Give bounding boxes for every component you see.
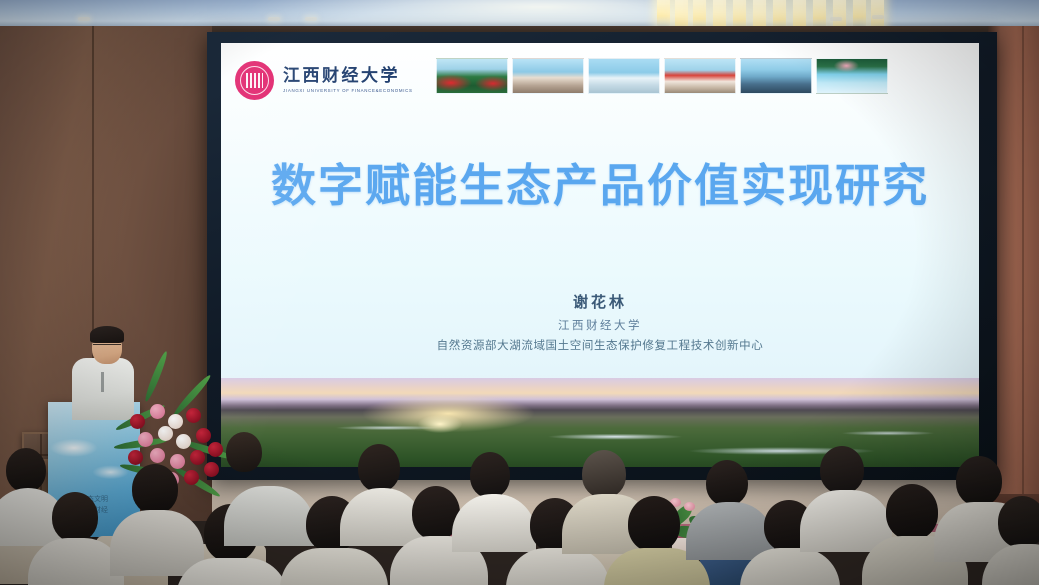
campus-photo	[664, 58, 736, 94]
university-name-cn: 江西财经大学	[283, 68, 413, 86]
wall-right-seam	[1022, 26, 1024, 496]
slide-author-name: 谢花林	[221, 291, 979, 312]
university-seal-icon	[235, 61, 274, 100]
downlight-icon	[78, 17, 90, 21]
speaker-hair	[90, 326, 124, 343]
campus-photo	[740, 58, 812, 94]
projection-screen-bezel: 江西财经大学 JIANGXI UNIVERSITY OF FINANCE&ECO…	[207, 32, 997, 480]
university-logo: 江西财经大学 JIANGXI UNIVERSITY OF FINANCE&ECO…	[235, 61, 413, 100]
speaker-lanyard	[101, 372, 104, 392]
university-name-en: JIANGXI UNIVERSITY OF FINANCE&ECONOMICS	[283, 88, 413, 93]
slide-title: 数字赋能生态产品价值实现研究	[221, 149, 979, 214]
downlight-icon	[830, 17, 842, 21]
downlight-icon	[305, 17, 317, 21]
downlight-icon	[872, 15, 884, 19]
slide-header: 江西财经大学 JIANGXI UNIVERSITY OF FINANCE&ECO…	[221, 43, 979, 105]
campus-photo	[436, 58, 508, 94]
campus-photo	[816, 58, 888, 94]
projection-screen: 江西财经大学 JIANGXI UNIVERSITY OF FINANCE&ECO…	[221, 43, 979, 467]
campus-photo	[512, 58, 584, 94]
speaker-glasses-icon	[93, 344, 121, 350]
campus-photo-strip	[436, 58, 888, 94]
presentation-slide: 江西财经大学 JIANGXI UNIVERSITY OF FINANCE&ECO…	[221, 43, 979, 467]
conference-hall-photo: 江西财经大学 JIANGXI UNIVERSITY OF FINANCE&ECO…	[0, 0, 1039, 585]
slide-affiliation-primary: 江西财经大学	[221, 317, 979, 333]
sun-glow	[418, 415, 462, 433]
slide-affiliation-secondary: 自然资源部大湖流域国土空间生态保护修复工程技术创新中心	[221, 337, 979, 353]
audience	[0, 440, 1039, 585]
campus-photo	[588, 58, 660, 94]
downlight-icon	[268, 17, 280, 21]
